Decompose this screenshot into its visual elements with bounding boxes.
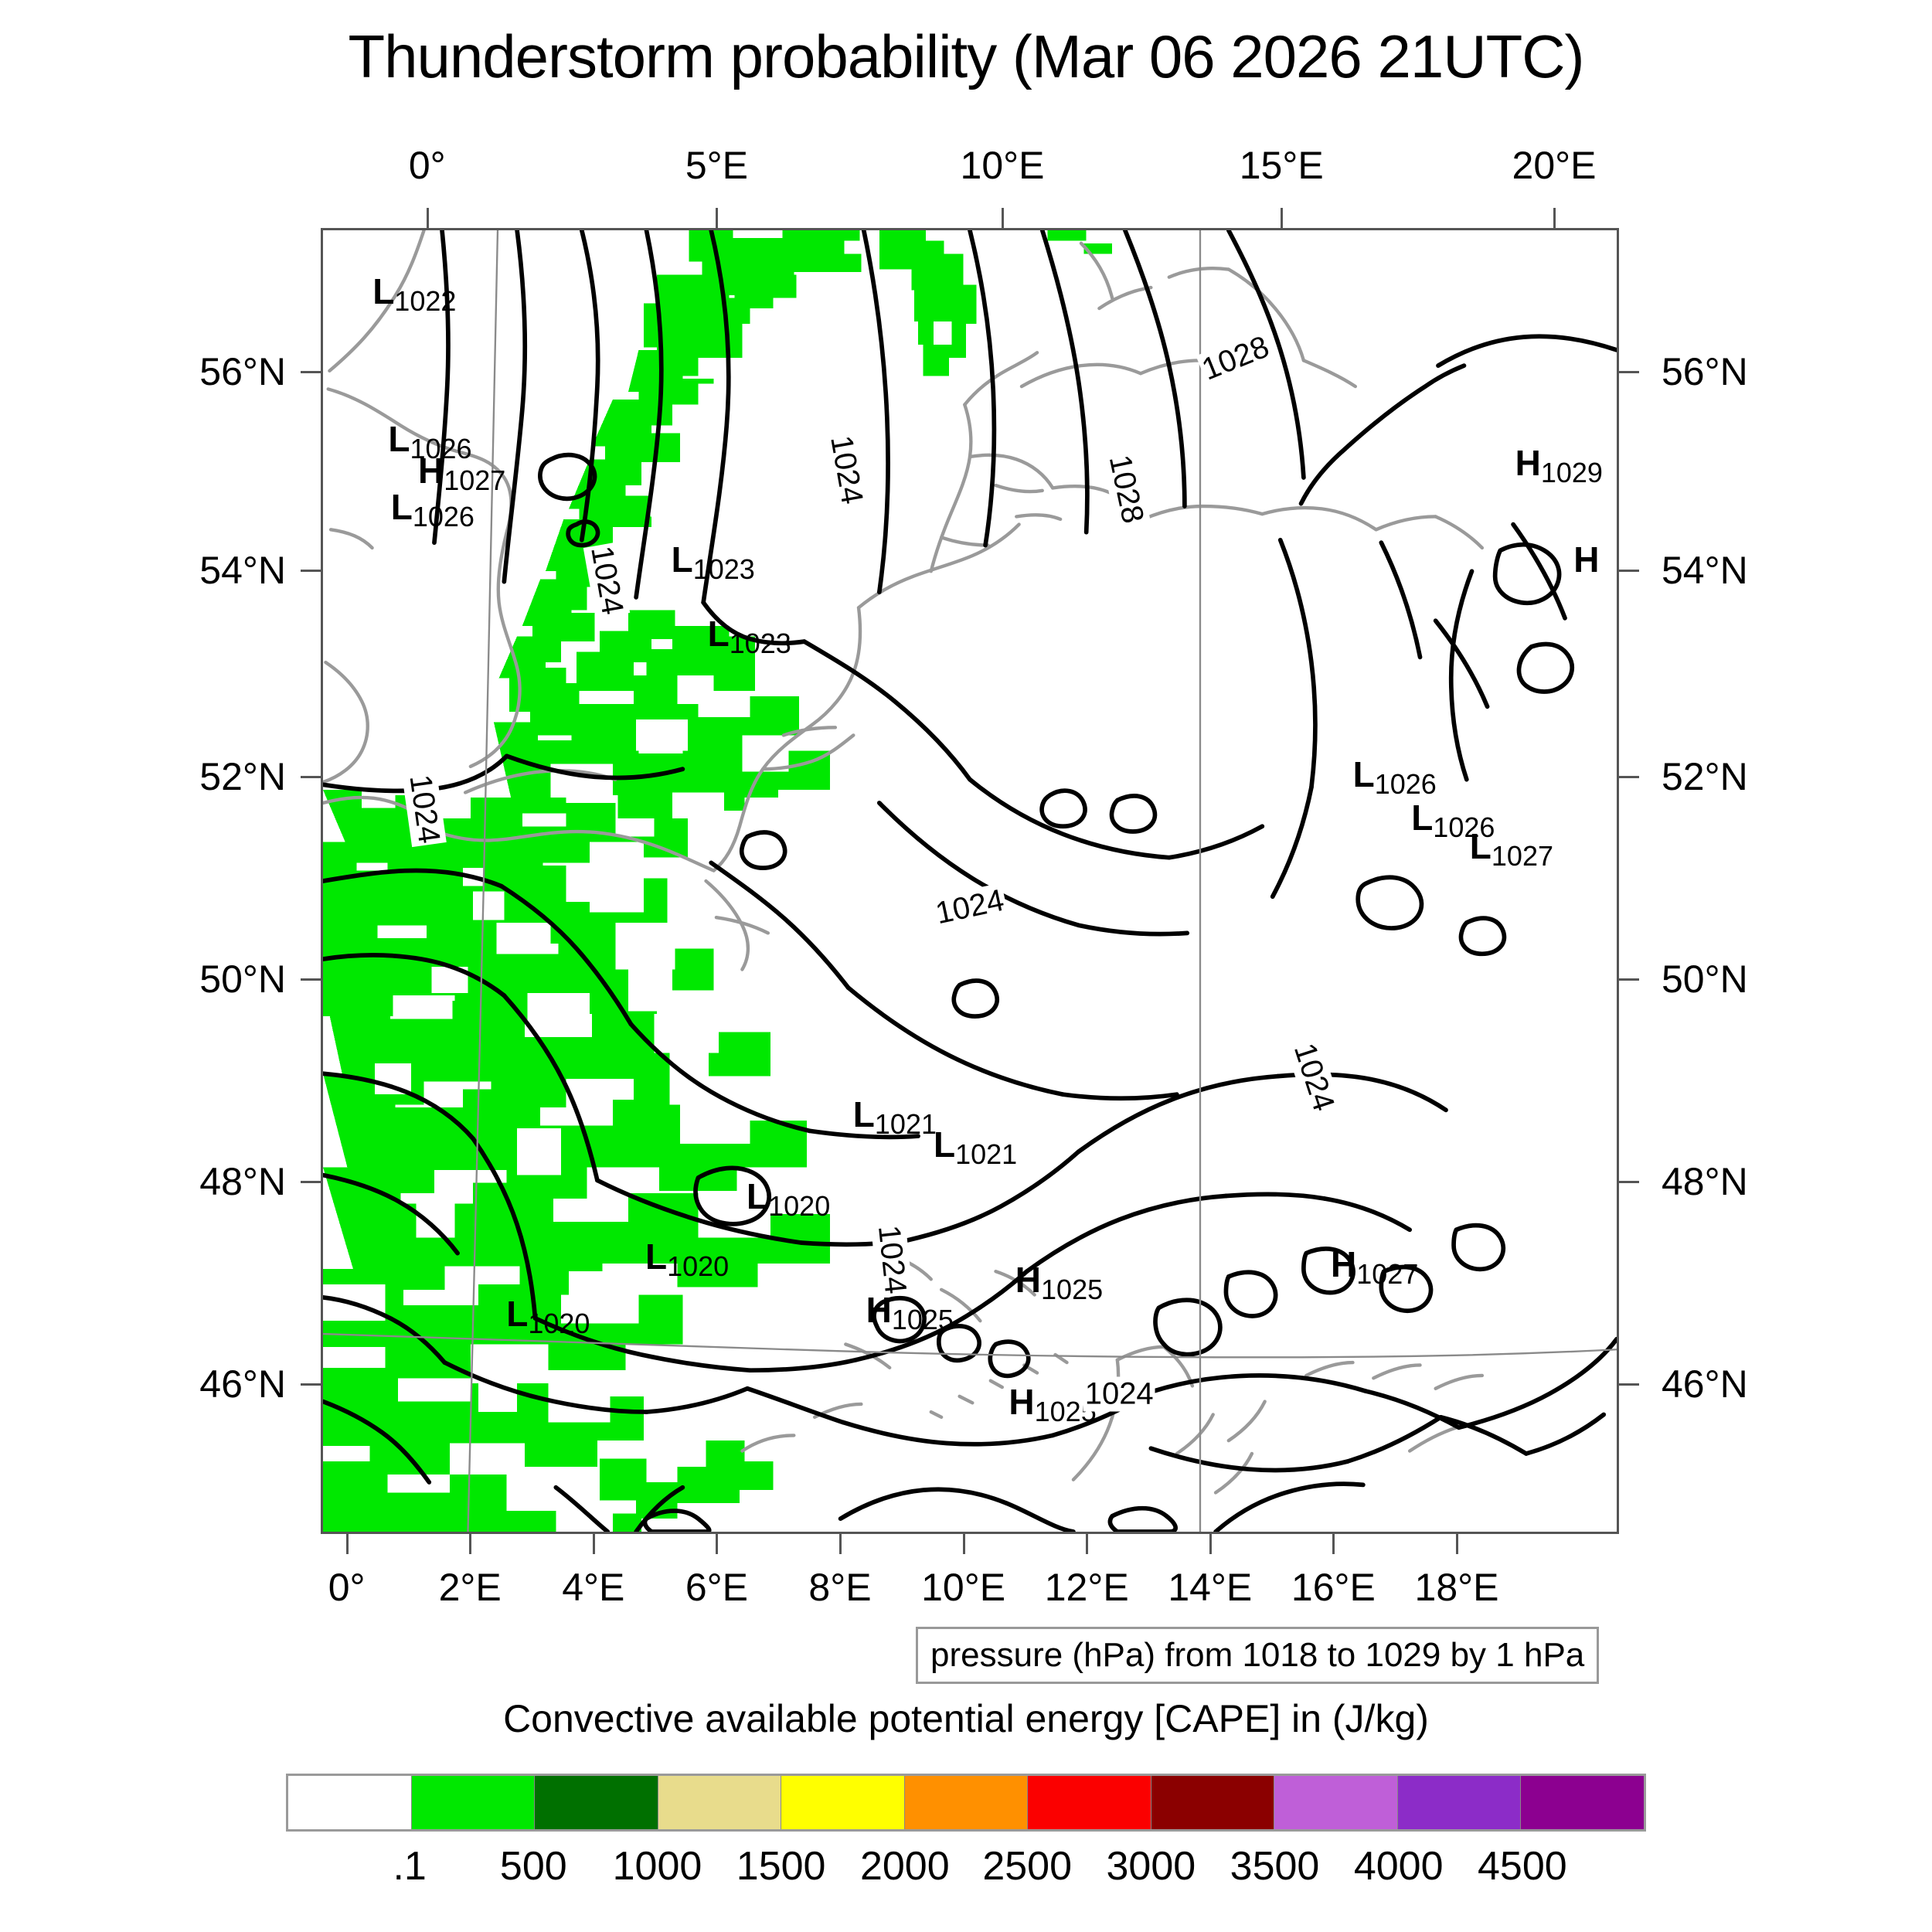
- pressure-extremum-value: 1025: [1041, 1274, 1103, 1305]
- pressure-extremum-label: L1027: [1470, 828, 1553, 864]
- left-axis-tick: [301, 371, 321, 373]
- right-axis-label: 48°N: [1662, 1159, 1748, 1204]
- bottom-axis-tick: [1456, 1534, 1458, 1554]
- colorbar-tick-label: 1000: [613, 1843, 702, 1889]
- pressure-extremum-label: L1022: [372, 274, 456, 309]
- colorbar-band[interactable]: [412, 1776, 536, 1829]
- bottom-axis-tick: [469, 1534, 471, 1554]
- bottom-axis-tick: [1209, 1534, 1212, 1554]
- pressure-extremum-label: L1023: [708, 616, 791, 651]
- right-axis-label: 50°N: [1662, 957, 1748, 1002]
- colorbar-band[interactable]: [1398, 1776, 1522, 1829]
- pressure-extremum-value: 1020: [667, 1250, 729, 1282]
- pressure-extremum-value: 1021: [955, 1138, 1017, 1170]
- page-title: Thunderstorm probability (Mar 06 2026 21…: [0, 22, 1932, 92]
- pressure-extremum-type: L: [672, 539, 693, 580]
- top-axis-label: 20°E: [1512, 143, 1597, 188]
- pressure-extremum-type: H: [1009, 1382, 1034, 1422]
- bottom-axis-tick: [1332, 1534, 1335, 1554]
- right-axis-tick: [1619, 1181, 1639, 1183]
- top-axis-label: 15°E: [1240, 143, 1324, 188]
- pressure-extremum-value: 1027: [1492, 840, 1553, 872]
- colorbar-tick-label: 4500: [1478, 1843, 1567, 1889]
- pressure-extremum-type: L: [372, 271, 394, 311]
- pressure-extremum-value: 1021: [875, 1108, 937, 1140]
- pressure-extremum-type: H: [1573, 539, 1599, 580]
- pressure-extremum-value: 1023: [730, 628, 791, 659]
- bottom-axis-label: 18°E: [1415, 1565, 1499, 1610]
- left-axis-label: 54°N: [199, 548, 286, 593]
- pressure-legend: pressure (hPa) from 1018 to 1029 by 1 hP…: [916, 1627, 1599, 1684]
- pressure-extremum-type: L: [1353, 754, 1375, 794]
- pressure-extremum-value: 1023: [693, 553, 755, 585]
- right-axis-tick: [1619, 570, 1639, 572]
- bottom-axis-label: 0°: [328, 1565, 366, 1610]
- cape-caption: Convective available potential energy [C…: [0, 1696, 1932, 1741]
- map-canvas: [323, 230, 1617, 1532]
- left-axis-tick: [301, 978, 321, 981]
- left-axis-tick: [301, 1181, 321, 1183]
- bottom-axis-label: 14°E: [1168, 1565, 1252, 1610]
- right-axis-tick: [1619, 978, 1639, 981]
- left-axis-tick: [301, 570, 321, 572]
- pressure-extremum-value: 1029: [1541, 457, 1603, 488]
- bottom-axis-tick: [1086, 1534, 1088, 1554]
- colorbar-band[interactable]: [1274, 1776, 1398, 1829]
- pressure-extremum-value: 1026: [413, 501, 474, 532]
- bottom-axis-tick: [963, 1534, 965, 1554]
- colorbar-band[interactable]: [288, 1776, 412, 1829]
- colorbar-band[interactable]: [658, 1776, 782, 1829]
- right-axis-label: 52°N: [1662, 754, 1748, 799]
- pressure-extremum-value: 1025: [892, 1304, 954, 1335]
- map-plot-area[interactable]: [321, 228, 1619, 1534]
- colorbar-band[interactable]: [535, 1776, 658, 1829]
- pressure-extremum-label: H1029: [1515, 445, 1603, 481]
- pressure-extremum-type: H: [418, 451, 444, 491]
- left-axis-label: 50°N: [199, 957, 286, 1002]
- top-axis-tick: [1553, 208, 1556, 228]
- top-axis-label: 10°E: [961, 143, 1045, 188]
- colorbar-band[interactable]: [1151, 1776, 1275, 1829]
- pressure-extremum-label: H1027: [418, 453, 505, 488]
- top-axis-tick: [427, 208, 429, 228]
- bottom-axis-label: 8°E: [808, 1565, 871, 1610]
- colorbar-band[interactable]: [781, 1776, 905, 1829]
- colorbar-tick-label: 3000: [1107, 1843, 1196, 1889]
- pressure-extremum-label: L1020: [506, 1296, 590, 1332]
- top-axis-tick: [716, 208, 718, 228]
- colorbar-tick-label: .1: [393, 1843, 426, 1889]
- colorbar-tick-label: 3500: [1230, 1843, 1320, 1889]
- pressure-extremum-label: L1023: [672, 542, 755, 577]
- pressure-extremum-type: L: [506, 1294, 528, 1334]
- pressure-extremum-type: L: [934, 1124, 955, 1165]
- right-axis-label: 56°N: [1662, 349, 1748, 394]
- colorbar-tick-label: 1500: [736, 1843, 826, 1889]
- pressure-extremum-type: H: [1515, 443, 1541, 483]
- pressure-extremum-value: 1022: [394, 285, 456, 317]
- pressure-extremum-type: H: [1015, 1260, 1041, 1300]
- top-axis-tick: [1002, 208, 1004, 228]
- pressure-extremum-type: L: [1470, 826, 1492, 866]
- left-axis-tick: [301, 1383, 321, 1386]
- colorbar-tick-label: 4000: [1354, 1843, 1444, 1889]
- pressure-extremum-value: 1026: [1375, 768, 1437, 800]
- left-axis-tick: [301, 776, 321, 778]
- colorbar-band[interactable]: [1028, 1776, 1151, 1829]
- colorbar-tick-label: 2500: [982, 1843, 1072, 1889]
- pressure-extremum-type: H: [1331, 1244, 1356, 1284]
- pressure-extremum-label: H1027: [1331, 1247, 1418, 1282]
- top-axis-tick: [1281, 208, 1283, 228]
- pressure-extremum-label: H: [1573, 542, 1599, 577]
- pressure-extremum-label: L1020: [645, 1239, 729, 1274]
- pressure-extremum-label: L1021: [934, 1127, 1017, 1162]
- right-axis-label: 46°N: [1662, 1362, 1748, 1406]
- colorbar-tick-label: 500: [500, 1843, 567, 1889]
- cape-colorbar-ticks: .150010001500200025003000350040004500: [286, 1843, 1646, 1897]
- colorbar-tick-label: 2000: [860, 1843, 950, 1889]
- left-axis-label: 46°N: [199, 1362, 286, 1406]
- bottom-axis-tick: [839, 1534, 842, 1554]
- pressure-extremum-type: L: [708, 614, 730, 654]
- right-axis-tick: [1619, 371, 1639, 373]
- bottom-axis-label: 16°E: [1291, 1565, 1376, 1610]
- pressure-extremum-value: 1027: [1356, 1258, 1418, 1290]
- left-axis-label: 48°N: [199, 1159, 286, 1204]
- top-axis-label: 5°E: [685, 143, 748, 188]
- right-axis-label: 54°N: [1662, 548, 1748, 593]
- pressure-extremum-value: 1020: [528, 1308, 590, 1339]
- pressure-extremum-type: L: [388, 419, 410, 459]
- bottom-axis-label: 4°E: [562, 1565, 624, 1610]
- left-axis-label: 52°N: [199, 754, 286, 799]
- bottom-axis-tick: [346, 1534, 349, 1554]
- top-axis-label: 0°: [409, 143, 446, 188]
- pressure-extremum-type: L: [853, 1094, 875, 1134]
- pressure-extremum-type: L: [645, 1236, 667, 1277]
- colorbar-band[interactable]: [1521, 1776, 1644, 1829]
- pressure-extremum-label: L1021: [853, 1097, 937, 1132]
- pressure-extremum-label: H1025: [1015, 1262, 1103, 1298]
- bottom-axis-label: 6°E: [685, 1565, 748, 1610]
- pressure-extremum-value: 1020: [768, 1190, 830, 1222]
- pressure-extremum-type: L: [391, 487, 413, 527]
- right-axis-tick: [1619, 1383, 1639, 1386]
- pressure-extremum-label: L1020: [747, 1179, 830, 1214]
- cape-colorbar[interactable]: [286, 1774, 1646, 1832]
- pressure-extremum-type: L: [1411, 798, 1433, 838]
- bottom-axis-label: 2°E: [439, 1565, 502, 1610]
- pressure-extremum-label: H1025: [866, 1292, 954, 1328]
- colorbar-band[interactable]: [905, 1776, 1029, 1829]
- pressure-extremum-label: L1026: [1353, 757, 1437, 792]
- bottom-axis-label: 12°E: [1045, 1565, 1129, 1610]
- right-axis-tick: [1619, 776, 1639, 778]
- contour-value-label: 1024: [1083, 1377, 1155, 1412]
- bottom-axis-tick: [593, 1534, 595, 1554]
- left-axis-label: 56°N: [199, 349, 286, 394]
- bottom-axis-label: 10°E: [921, 1565, 1005, 1610]
- pressure-extremum-label: L1026: [391, 489, 474, 525]
- bottom-axis-tick: [716, 1534, 718, 1554]
- pressure-extremum-type: L: [747, 1176, 768, 1216]
